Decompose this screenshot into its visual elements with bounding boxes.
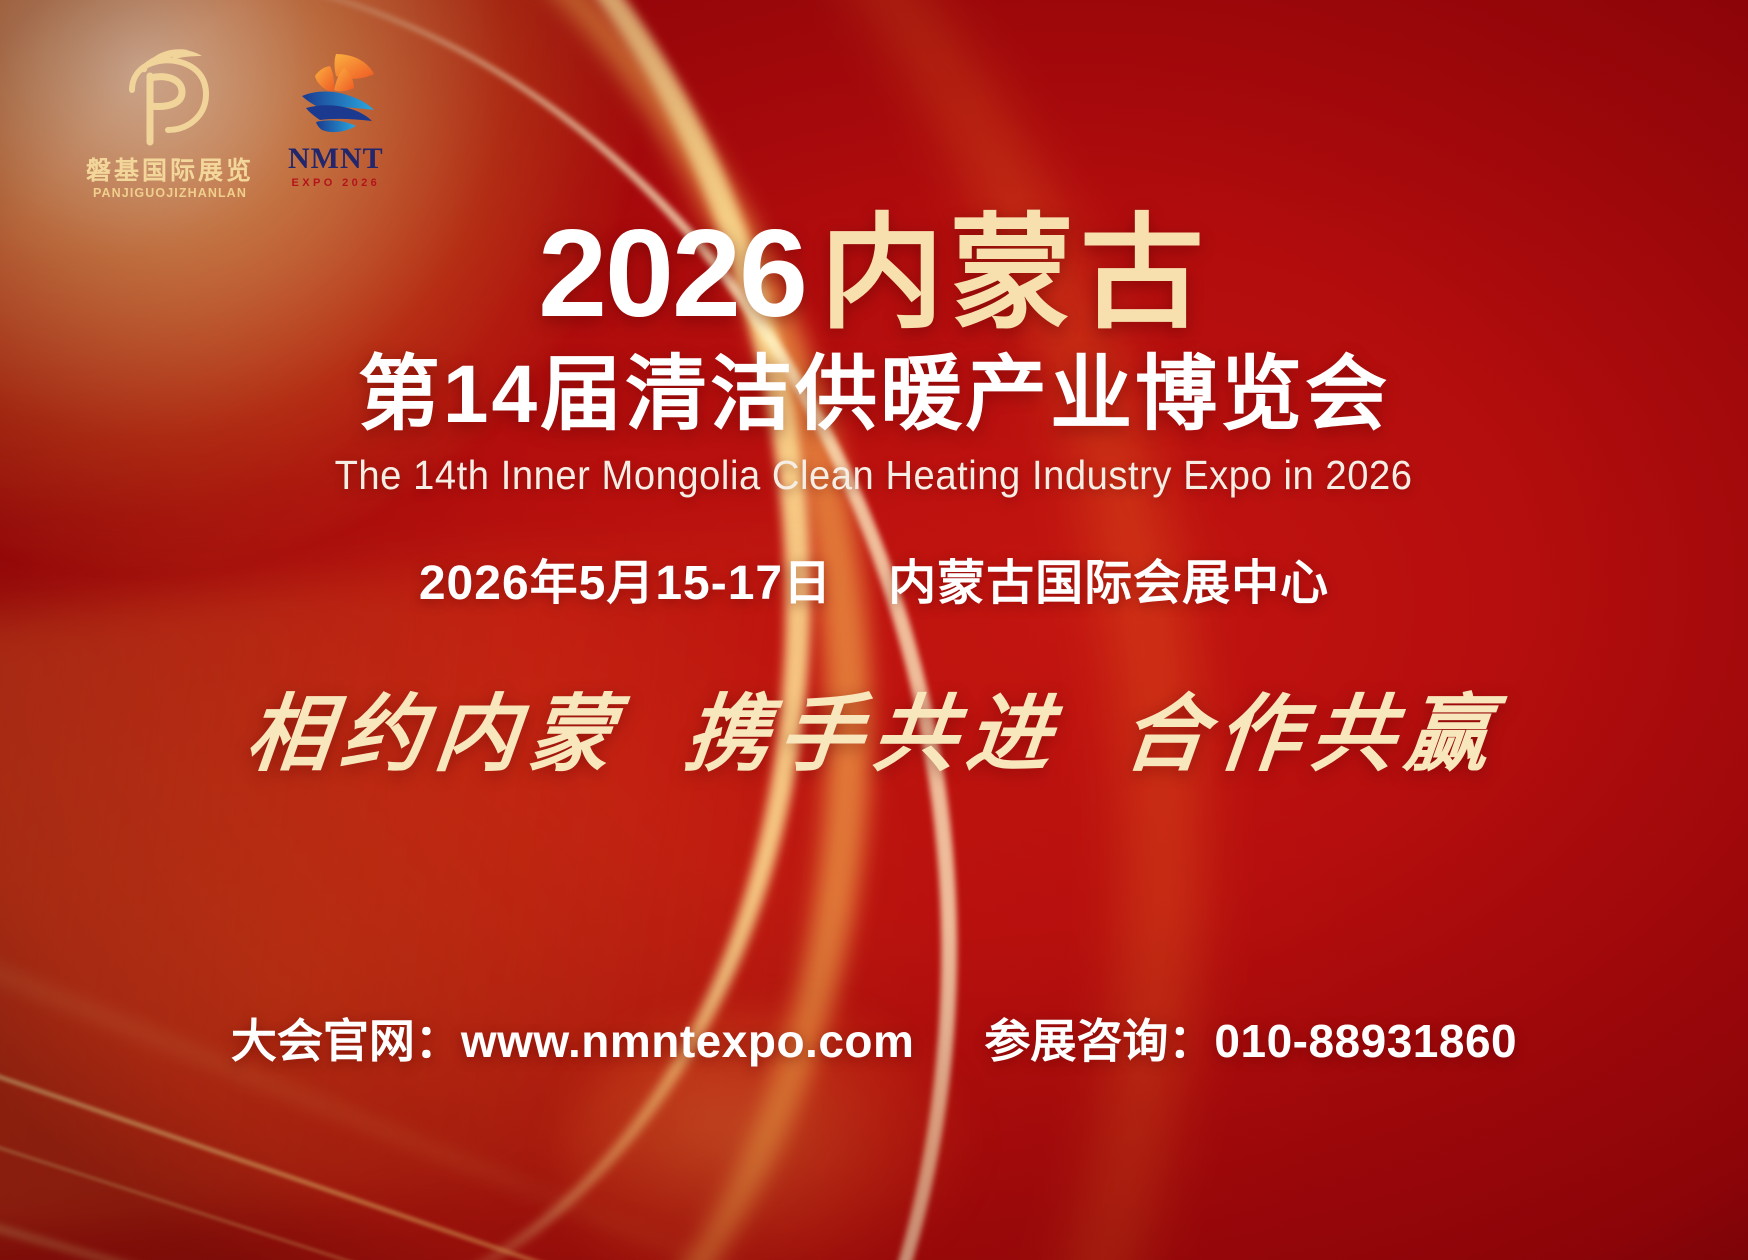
website-url[interactable]: www.nmntexpo.com [461,1014,915,1068]
sun-wave-mark-icon [290,46,382,138]
panji-logo-cn-name: 磐基国际展览 [86,158,254,184]
title-line-primary: 2026内蒙古 [538,212,1210,336]
event-venue: 内蒙古国际会展中心 [888,543,1329,613]
slogan-part-2: 携手共进 [680,667,1069,788]
title-main: 第14届清洁供暖产业博览会 [358,352,1390,438]
event-info: 2026年5月15-17日 内蒙古国际会展中心 [419,543,1329,613]
nmnt-wordmark: NMNT [288,144,384,174]
phone-number[interactable]: 010-88931860 [1214,1014,1517,1068]
title-english: The 14th Inner Mongolia Clean Heating In… [335,452,1413,499]
slogan-part-1: 相约内蒙 [242,667,631,788]
panji-logo: 磐基国际展览 PANJIGUOJIZHANLAN [86,46,254,200]
dragon-p-monogram-icon [110,46,230,154]
panji-logo-pinyin: PANJIGUOJIZHANLAN [93,186,247,200]
title-year: 2026 [538,205,806,343]
title-region: 内蒙古 [820,205,1210,343]
nmnt-expo-year: EXPO 2026 [291,177,380,189]
logo-bar: 磐基国际展览 PANJIGUOJIZHANLAN [86,46,384,200]
contact-bar: 大会官网： www.nmntexpo.com 参展咨询： 010-8893186… [0,1005,1748,1071]
website-label: 大会官网： [231,1005,461,1071]
website-block: 大会官网： www.nmntexpo.com [231,1005,915,1071]
expo-poster: 磐基国际展览 PANJIGUOJIZHANLAN [0,0,1748,1260]
nmnt-logo: NMNT EXPO 2026 [288,46,384,189]
poster-content: 2026内蒙古 第14届清洁供暖产业博览会 The 14th Inner Mon… [0,212,1748,788]
slogan-part-3: 合作共赢 [1118,667,1507,788]
phone-label: 参展咨询： [984,1005,1214,1071]
phone-block: 参展咨询： 010-88931860 [984,1005,1517,1071]
slogan-calligraphy: 相约内蒙 携手共进 合作共赢 [248,667,1500,788]
event-date: 2026年5月15-17日 [419,543,832,613]
